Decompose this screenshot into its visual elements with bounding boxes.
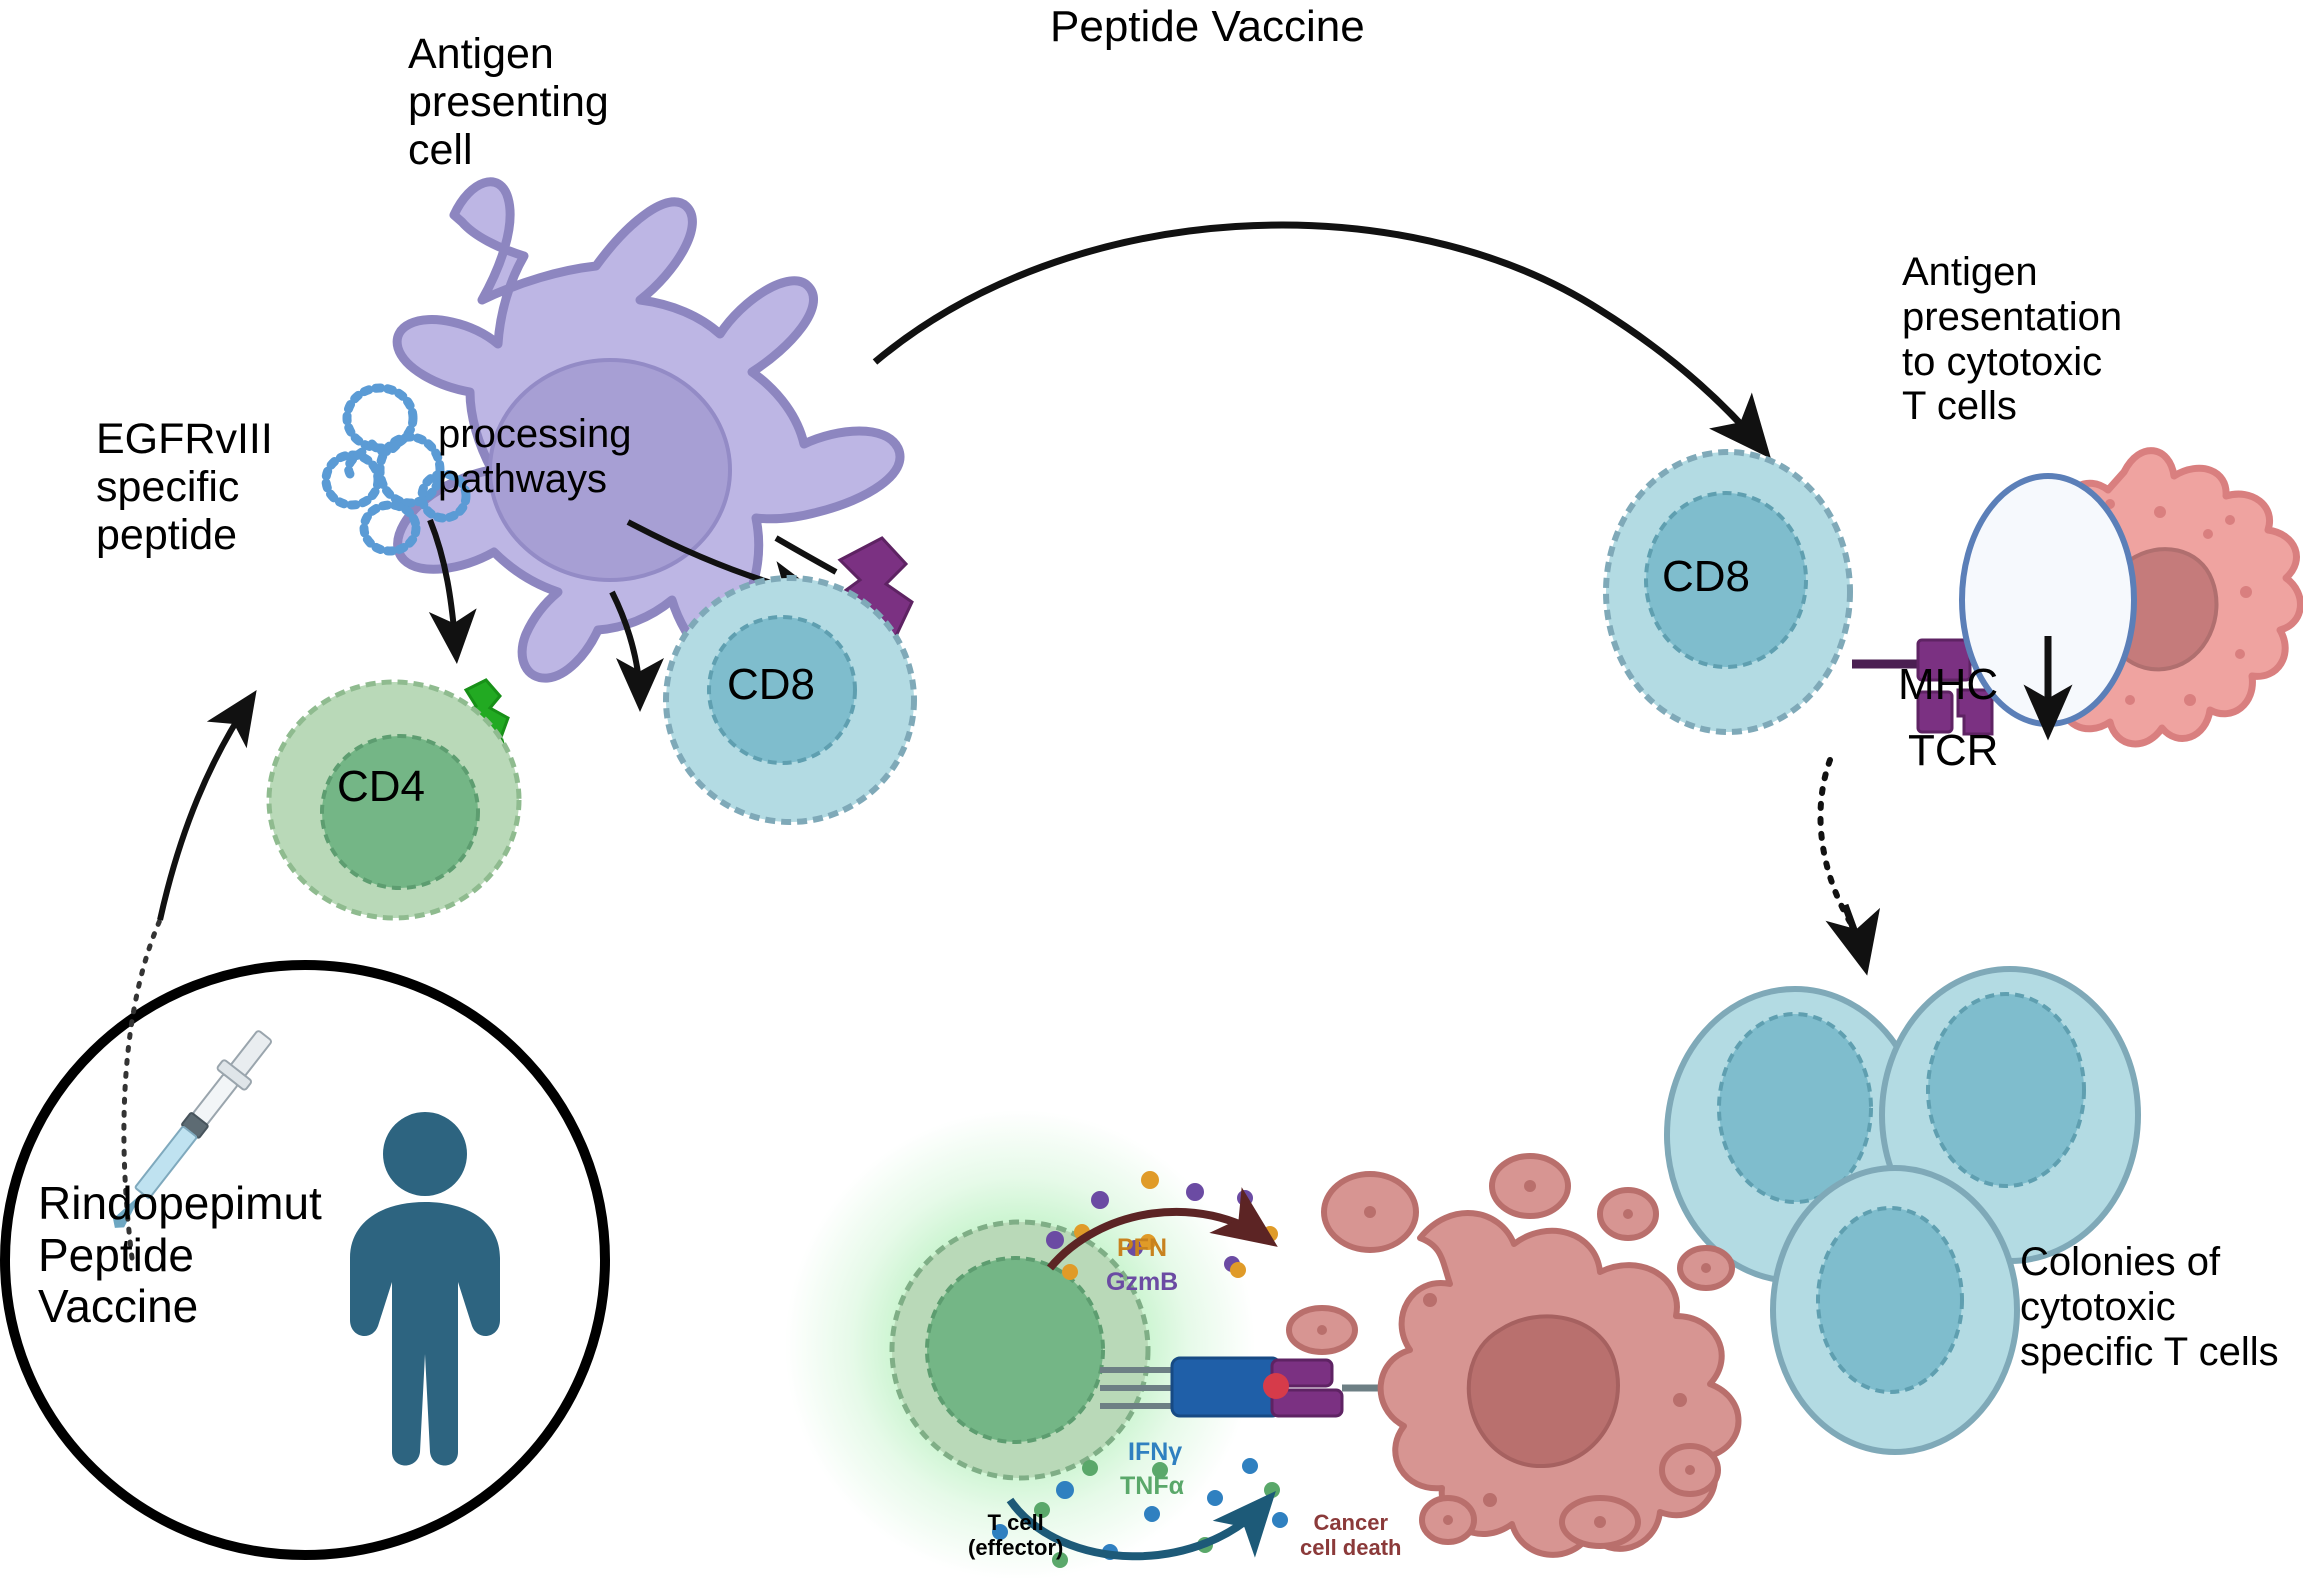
label-egfrviii-specific-peptide: EGFRvIII specific peptide	[96, 415, 273, 559]
arrow-apc-to-cytotoxic-tcell	[875, 225, 1762, 448]
label-t-cell-effector: T cell (effector)	[968, 1511, 1063, 1560]
arrow-membrane-tick	[776, 538, 836, 572]
label-tnfa: TNFα	[1120, 1472, 1184, 1500]
label-rindopepimut-peptide-vaccine: Rindopepimut Peptide Vaccine	[38, 1178, 322, 1333]
arrow-cd8-to-colonies-head	[1845, 905, 1864, 962]
label-cd8-left: CD8	[727, 660, 815, 709]
label-cd4: CD4	[337, 762, 425, 811]
label-pfn: PFN	[1117, 1234, 1167, 1262]
figure-canvas: Peptide Vaccine Antigen presenting cell …	[0, 0, 2303, 1578]
label-colonies-of-cytotoxic-specific-t-cells: Colonies of cytotoxic specific T cells	[2020, 1240, 2279, 1374]
label-antigen-presenting-cell: Antigen presenting cell	[408, 30, 609, 174]
label-cancer-cell-death: Cancer cell death	[1300, 1511, 1401, 1560]
label-ifng: IFNγ	[1128, 1438, 1182, 1466]
label-tcr: TCR	[1908, 726, 1998, 775]
dying-cancer-cell-graphic	[1289, 1156, 1739, 1555]
tcell-colonies-graphic	[1667, 969, 2138, 1452]
arrow-cd8-to-colonies-dashes	[1820, 760, 1850, 922]
label-antigen-presentation-to-cytotoxic-t-cells: Antigen presentation to cytotoxic T cell…	[1902, 250, 2122, 429]
label-cd8-right: CD8	[1662, 552, 1750, 601]
label-gzmb: GzmB	[1106, 1268, 1178, 1296]
arrow-vaccine-to-peptide-head	[160, 700, 250, 920]
label-processing-pathways: processing pathways	[438, 412, 631, 502]
figure-title: Peptide Vaccine	[1050, 2, 1365, 51]
label-mhc: MHC	[1898, 660, 1998, 709]
